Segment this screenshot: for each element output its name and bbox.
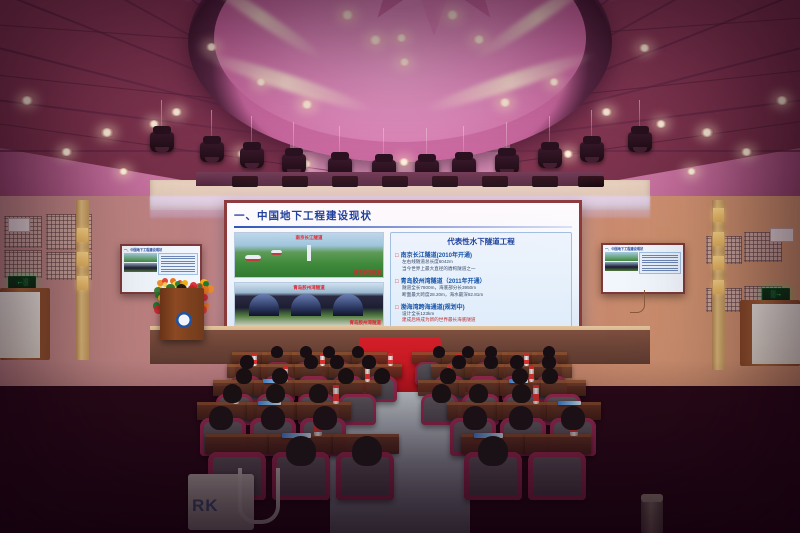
audience-head [440,368,456,384]
slide-bullet-3-head: 渤海湾跨海通道(规划中) [395,302,567,311]
downlight [395,34,408,42]
doorway-light-right [752,304,800,364]
downlight [548,78,560,86]
audience-head [240,355,254,369]
slide-photo-column: 南京长江隧道 南京长江隧道 青岛胶州湾隧道 青岛胶州湾隧道 [234,232,384,328]
desk-edge [295,380,340,383]
side-screen-left-title: 一、中国地下工程建设现状 [122,246,200,253]
bottle-label [524,360,529,364]
desk-edge [205,434,271,437]
side-screen-left-text [158,253,198,275]
audience-head [304,355,318,369]
doorway-light-left [0,292,40,358]
slide-bullet-2: 青岛胶州湾隧道（2011年开通） 隧道全长7800m，海底部分长3950m 断面… [395,276,567,299]
slide-photo-nanjing: 南京长江隧道 南京长江隧道 [234,232,384,278]
slide-title-rule [234,226,572,228]
slide-photo-2-header: 青岛胶州湾隧道 [293,285,325,291]
audience-head [352,346,364,358]
bottle-cap [524,353,529,356]
wall-picture-left [8,218,30,232]
slide-bullet-1-head: 南京长江隧道(2010年开通) [395,250,567,259]
podium-emblem [176,312,192,328]
bottle-label [388,360,393,364]
downlight [60,148,73,156]
downlight [300,100,314,109]
decor-column-left [76,200,89,360]
side-screen-right-text [639,252,681,274]
stage-spotlight [200,142,224,162]
audience-head [236,368,252,384]
overhead-speaker [382,176,408,187]
bottle-cap [252,353,257,356]
audience-head [338,368,354,384]
desk-edge [197,402,251,405]
downlight [20,96,34,105]
downlight [655,120,667,128]
slide-bullet-2-sub-1: 隧道全长7800m，海底部分长3950m [395,285,567,292]
downlight [740,148,753,156]
audience-head [542,355,556,369]
audience-head [271,346,283,358]
slide-photo-1-caption: 南京长江隧道 [354,270,381,276]
audience-head [374,368,390,384]
audience-head [272,368,288,384]
bottle-label [333,394,339,401]
desk-edge [459,380,504,383]
desk-edge [525,434,591,437]
slide-bullet-1-sub-1: 左右线隧道总长度6042m [395,259,567,266]
overhead-speaker [432,176,458,187]
slide-bullet-1-sub-2: 当今世界上最大直径的盾构隧道之一 [395,266,567,273]
audience-head [309,384,328,403]
audience-head [509,406,533,430]
thermos-cap [641,494,663,502]
audience-head [223,384,242,403]
bottle-cap [533,385,539,388]
audience-seat [528,452,586,500]
exit-sign-right-glyph: ░→ [771,291,782,298]
audience-head [463,406,487,430]
downlight [340,10,355,20]
downlight [638,44,651,52]
downlight [398,58,411,66]
overhead-speaker [282,176,308,187]
downlight [686,168,697,175]
downlight [600,108,613,116]
stage-spotlight [580,142,604,162]
audience-head [452,355,466,369]
overhead-speaker [232,176,258,187]
slide-panel-title: 代表性水下隧道工程 [395,236,567,247]
slide-bullet-1: 南京长江隧道(2010年开通) 左右线隧道总长度6042m 当今世界上最大直径的… [395,250,567,273]
audience-head [542,368,558,384]
audience-head [561,406,585,430]
overhead-speaker [332,176,358,187]
downlight [255,78,267,86]
downlight [118,168,129,175]
bottle-label [533,394,539,401]
audience-head [432,384,451,403]
bottle-cap [333,385,339,388]
audience-head [512,368,528,384]
downlight [445,10,460,20]
stage-spotlight [495,154,519,174]
wall-picture-right [770,228,794,242]
slide-bullet-3-sub-2: 建成后将成为新的世界最长海底隧道 [395,317,567,324]
desk-edge [297,402,351,405]
stage-spotlight [282,154,306,174]
bottle-cap [529,366,534,369]
downlight [700,128,714,137]
overhead-speaker [578,176,604,187]
slide-bullet-3: 渤海湾跨海通道(规划中) 设计全长123km 建成后将成为新的世界最长海底隧道 [395,302,567,325]
main-projection-screen[interactable]: 一、中国地下工程建设现状 南京长江隧道 南京长江隧道 青岛胶州湾隧道 [224,200,582,336]
side-screen-right-photos [605,252,638,274]
audience-head [266,384,285,403]
audience-head [209,406,233,430]
side-screen-right-title: 一、中国地下工程建设现状 [603,245,683,252]
stage-spotlight [538,148,562,168]
screen-cable-right [630,290,645,313]
bottle-label [365,374,370,380]
side-screen-right[interactable]: 一、中国地下工程建设现状 [601,243,685,294]
decor-column-right [712,200,725,370]
audience-head [313,406,337,430]
stage-spotlight [628,132,652,152]
slide-bullet-2-head: 青岛胶州湾隧道（2011年开通） [395,276,567,285]
slide-photo-1-header: 南京长江隧道 [296,235,323,241]
tote-bag-handle [238,468,280,524]
bottle-label [529,374,534,380]
thermos [641,498,663,533]
audience-head [352,436,382,466]
presentation-slide: 一、中国地下工程建设现状 南京长江隧道 南京长江隧道 青岛胶州湾隧道 [227,203,579,333]
downlight [398,158,410,166]
overhead-speaker [482,176,508,187]
downlight [498,98,512,107]
audience-head [433,346,445,358]
tote-bag-text: RK [192,496,219,516]
auditorium-photo: ←░ ░→ 一、中国地下工程建设现状 南京长江隧道 [0,0,800,533]
bottle-cap [388,353,393,356]
downlight [775,96,789,105]
downlight [170,108,183,116]
audience-head [510,355,524,369]
bottle-label [320,360,325,364]
downlight [472,35,486,44]
slide-text-panel: 代表性水下隧道工程 南京长江隧道(2010年开通) 左右线隧道总长度6042m … [390,232,572,328]
exit-sign-left-glyph: ←░ [17,279,28,286]
audience-head [469,384,488,403]
audience-head [478,436,508,466]
overhead-speaker [532,176,558,187]
stage-spotlight [240,148,264,168]
audience-head [286,436,316,466]
audience-head [362,355,376,369]
acoustic-panel [4,250,42,278]
downlight [205,43,218,51]
stage-spotlight [150,132,174,152]
downlight [100,128,114,137]
slide-photo-qingdao: 青岛胶州湾隧道 青岛胶州湾隧道 [234,282,384,328]
slide-bullet-2-sub-2: 断面最大跨度28.20m，海水最深82.81m [395,292,567,299]
downlight [562,150,574,158]
slide-title: 一、中国地下工程建设现状 [234,208,572,223]
desk [525,434,591,454]
audience-head [512,384,531,403]
side-screen-left-photos [124,253,157,275]
notebook [558,401,581,405]
audience-head [484,355,498,369]
desk [205,434,271,454]
downlight [368,35,383,45]
audience-head [330,355,344,369]
audience-head [261,406,285,430]
